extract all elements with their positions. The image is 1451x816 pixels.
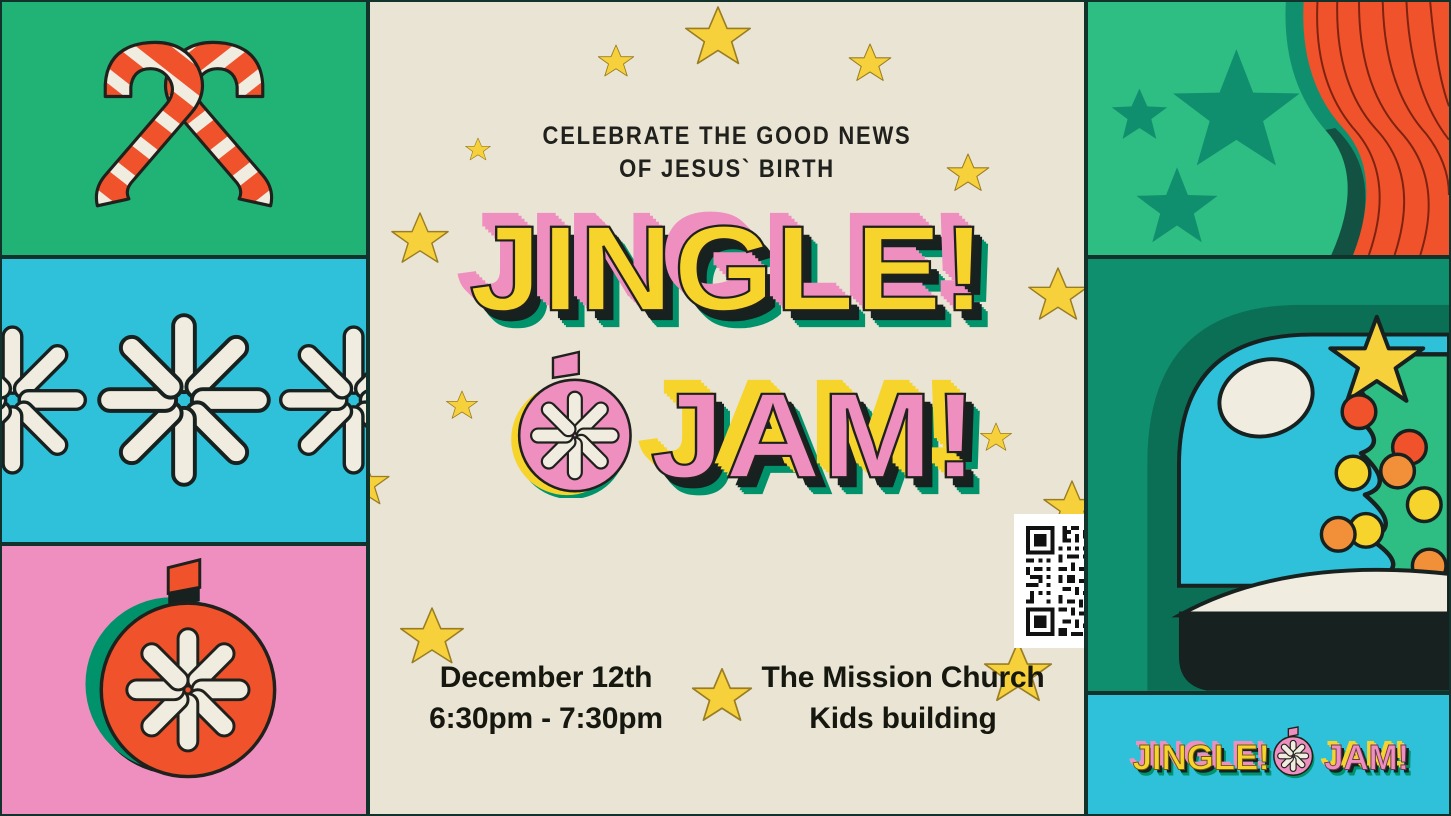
event-venue: The Mission Church Kids building	[753, 657, 1053, 740]
tagline-line-2: OF JESUS` BIRTH	[413, 153, 1041, 186]
panel-ornament	[0, 544, 368, 816]
star-icon	[691, 666, 753, 728]
details-divider-star	[691, 657, 753, 728]
red-ornament-icon	[2, 546, 366, 814]
event-date: December 12th	[401, 657, 691, 698]
panel-snow-globe	[1086, 257, 1451, 693]
event-title: JINGLE! JAM!	[370, 198, 1084, 498]
panel-candy-canes	[0, 0, 368, 257]
title-artwork: JINGLE! JAM!	[370, 198, 1084, 498]
candy-cane-pair-icon	[2, 2, 366, 255]
tagline: CELEBRATE THE GOOD NEWS OF JESUS` BIRTH	[413, 120, 1041, 185]
event-details: December 12th 6:30pm - 7:30pm The Missio…	[370, 657, 1084, 740]
event-date-time: December 12th 6:30pm - 7:30pm	[401, 657, 691, 740]
panel-stage-curtain	[1086, 0, 1451, 257]
tagline-line-1: CELEBRATE THE GOOD NEWS	[413, 120, 1041, 153]
qr-code-image	[1022, 522, 1086, 640]
event-time: 6:30pm - 7:30pm	[401, 698, 691, 739]
title-ornament-icon	[511, 352, 630, 498]
logo-ornament-icon	[1274, 727, 1315, 778]
stage-curtain-icon	[1088, 2, 1449, 255]
jingle-jam-event-poster: CELEBRATE THE GOOD NEWS OF JESUS` BIRTH …	[0, 0, 1451, 816]
snow-globe-icon	[1088, 259, 1449, 691]
panel-snowflakes	[0, 257, 368, 544]
panel-main-content: CELEBRATE THE GOOD NEWS OF JESUS` BIRTH …	[368, 0, 1086, 816]
jingle-jam-logo: JINGLE! JAM!	[1088, 695, 1449, 814]
snowflake-row-icon	[2, 259, 366, 542]
panel-logo-strip: JINGLE! JAM!	[1086, 693, 1451, 816]
event-registration-qr-code[interactable]	[1014, 514, 1086, 648]
venue-location: Kids building	[753, 698, 1053, 739]
venue-name: The Mission Church	[753, 657, 1053, 698]
